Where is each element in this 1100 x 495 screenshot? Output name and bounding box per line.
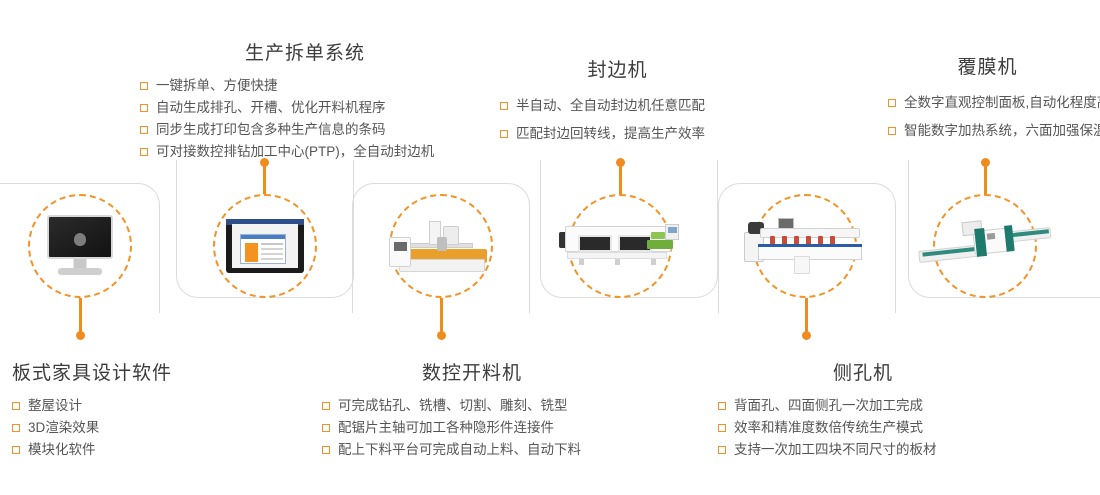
text-block-laminating-machine: 覆膜机 全数字直观控制面板,自动化程度高 智能数字加热系统，六面加强保温 bbox=[880, 52, 1100, 145]
list-item: 效率和精准度数倍传统生产模式 bbox=[718, 417, 1008, 439]
list-item: 全数字直观控制面板,自动化程度高 bbox=[888, 89, 1100, 117]
cnc-router-icon bbox=[389, 215, 493, 277]
list-item: 可完成钻孔、铣槽、切割、雕刻、铣型 bbox=[322, 395, 622, 417]
stem-dot-5 bbox=[802, 331, 811, 340]
node-cnc-cutting-machine[interactable] bbox=[389, 194, 493, 298]
bullet-list-cnc-cutting-machine: 可完成钻孔、铣槽、切割、雕刻、铣型 配锯片主轴可加工各种隐形件连接件 配上下料平… bbox=[322, 395, 622, 461]
bullet-marker-icon bbox=[140, 104, 148, 112]
edge-bander-icon bbox=[559, 222, 681, 270]
node-title-cnc-cutting-machine: 数控开料机 bbox=[322, 358, 622, 385]
bullet-list-laminating-machine: 全数字直观控制面板,自动化程度高 智能数字加热系统，六面加强保温 bbox=[888, 89, 1100, 145]
bullet-text: 全数字直观控制面板,自动化程度高 bbox=[904, 89, 1100, 117]
bullet-text: 自动生成排孔、开槽、优化开料机程序 bbox=[156, 97, 386, 119]
bullet-marker-icon bbox=[718, 446, 726, 454]
bullet-marker-icon bbox=[888, 127, 896, 135]
bullet-marker-icon bbox=[718, 424, 726, 432]
bullet-text: 配锯片主轴可加工各种隐形件连接件 bbox=[338, 417, 554, 439]
bullet-text: 配上下料平台可完成自动上料、自动下料 bbox=[338, 439, 581, 461]
bullet-list-design-software: 整屋设计 3D渲染效果 模块化软件 bbox=[12, 395, 172, 461]
list-item: 配锯片主轴可加工各种隐形件连接件 bbox=[322, 417, 622, 439]
node-design-software[interactable] bbox=[28, 194, 132, 298]
bullet-text: 可对接数控排钻加工中心(PTP)，全自动封边机 bbox=[156, 141, 434, 163]
list-item: 模块化软件 bbox=[12, 439, 172, 461]
stem-dot-4 bbox=[616, 158, 625, 167]
bullet-marker-icon bbox=[140, 126, 148, 134]
node-edge-banding-machine[interactable] bbox=[568, 194, 672, 298]
bullet-marker-icon bbox=[322, 402, 330, 410]
stem-dot-1 bbox=[76, 331, 85, 340]
bullet-marker-icon bbox=[500, 130, 508, 138]
list-item: 一键拆单、方便快捷 bbox=[140, 75, 480, 97]
bullet-list-splitting-system: 一键拆单、方便快捷 自动生成排孔、开槽、优化开料机程序 同步生成打印包含多种生产… bbox=[140, 75, 480, 163]
bullet-list-side-hole-machine: 背面孔、四面侧孔一次加工完成 效率和精准度数倍传统生产模式 支持一次加工四块不同… bbox=[718, 395, 1008, 461]
bullet-text: 同步生成打印包含多种生产信息的条码 bbox=[156, 119, 386, 141]
list-item: 配上下料平台可完成自动上料、自动下料 bbox=[322, 439, 622, 461]
bullet-marker-icon bbox=[322, 446, 330, 454]
bullet-marker-icon bbox=[500, 102, 508, 110]
desktop-monitor-icon bbox=[41, 215, 119, 277]
bullet-text: 智能数字加热系统，六面加强保温 bbox=[904, 117, 1100, 145]
text-block-edge-banding-machine: 封边机 半自动、全自动封边机任意匹配 匹配封边回转线，提高生产效率 bbox=[500, 55, 735, 148]
production-line-infographic: 板式家具设计软件 整屋设计 3D渲染效果 模块化软件 生产拆单系统 一键拆单、方… bbox=[0, 0, 1100, 495]
bullet-marker-icon bbox=[140, 148, 148, 156]
bullet-text: 可完成钻孔、铣槽、切割、雕刻、铣型 bbox=[338, 395, 568, 417]
bullet-marker-icon bbox=[12, 446, 20, 454]
node-side-hole-machine[interactable] bbox=[753, 194, 857, 298]
bullet-marker-icon bbox=[140, 82, 148, 90]
bullet-text: 模块化软件 bbox=[28, 439, 96, 461]
stem-dot-6 bbox=[981, 158, 990, 167]
bullet-text: 3D渲染效果 bbox=[28, 417, 99, 439]
node-splitting-system[interactable] bbox=[213, 194, 317, 298]
bullet-text: 背面孔、四面侧孔一次加工完成 bbox=[734, 395, 923, 417]
list-item: 同步生成打印包含多种生产信息的条码 bbox=[140, 119, 480, 141]
list-item: 整屋设计 bbox=[12, 395, 172, 417]
bullet-text: 整屋设计 bbox=[28, 395, 82, 417]
text-block-side-hole-machine: 侧孔机 背面孔、四面侧孔一次加工完成 效率和精准度数倍传统生产模式 支持一次加工… bbox=[718, 358, 1008, 461]
node-laminating-machine[interactable] bbox=[933, 194, 1037, 298]
bullet-text: 匹配封边回转线，提高生产效率 bbox=[516, 120, 705, 148]
list-item: 背面孔、四面侧孔一次加工完成 bbox=[718, 395, 1008, 417]
bullet-marker-icon bbox=[888, 99, 896, 107]
node-title-side-hole-machine: 侧孔机 bbox=[718, 358, 1008, 385]
list-item: 3D渲染效果 bbox=[12, 417, 172, 439]
list-item: 支持一次加工四块不同尺寸的板材 bbox=[718, 439, 1008, 461]
node-title-design-software: 板式家具设计软件 bbox=[12, 358, 172, 385]
bullet-marker-icon bbox=[322, 424, 330, 432]
bullet-marker-icon bbox=[12, 424, 20, 432]
bullet-text: 半自动、全自动封边机任意匹配 bbox=[516, 92, 705, 120]
software-screen-icon bbox=[226, 219, 304, 273]
bullet-text: 效率和精准度数倍传统生产模式 bbox=[734, 417, 923, 439]
text-block-cnc-cutting-machine: 数控开料机 可完成钻孔、铣槽、切割、雕刻、铣型 配锯片主轴可加工各种隐形件连接件… bbox=[322, 358, 622, 461]
bullet-text: 一键拆单、方便快捷 bbox=[156, 75, 278, 97]
list-item: 自动生成排孔、开槽、优化开料机程序 bbox=[140, 97, 480, 119]
stem-dot-3 bbox=[437, 331, 446, 340]
side-drilling-machine-icon bbox=[742, 216, 868, 276]
node-title-edge-banding-machine: 封边机 bbox=[500, 55, 735, 82]
bullet-marker-icon bbox=[718, 402, 726, 410]
laminating-machine-icon bbox=[918, 220, 1052, 272]
bullet-marker-icon bbox=[12, 402, 20, 410]
text-block-design-software: 板式家具设计软件 整屋设计 3D渲染效果 模块化软件 bbox=[12, 358, 172, 461]
node-title-splitting-system: 生产拆单系统 bbox=[130, 38, 480, 65]
list-item: 匹配封边回转线，提高生产效率 bbox=[500, 120, 735, 148]
text-block-splitting-system: 生产拆单系统 一键拆单、方便快捷 自动生成排孔、开槽、优化开料机程序 同步生成打… bbox=[130, 38, 480, 163]
list-item: 半自动、全自动封边机任意匹配 bbox=[500, 92, 735, 120]
bullet-text: 支持一次加工四块不同尺寸的板材 bbox=[734, 439, 937, 461]
list-item: 可对接数控排钻加工中心(PTP)，全自动封边机 bbox=[140, 141, 480, 163]
list-item: 智能数字加热系统，六面加强保温 bbox=[888, 117, 1100, 145]
bullet-list-edge-banding-machine: 半自动、全自动封边机任意匹配 匹配封边回转线，提高生产效率 bbox=[500, 92, 735, 148]
node-title-laminating-machine: 覆膜机 bbox=[880, 52, 1095, 79]
